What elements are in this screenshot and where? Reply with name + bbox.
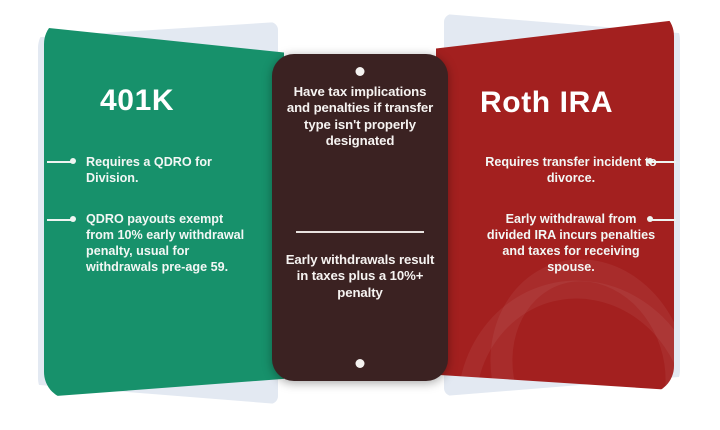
left-panel-401k [44,16,284,400]
left-bullet-1-dot [70,158,76,164]
center-divider [296,231,424,233]
right-bullet-2-text: Early withdrawal from divided IRA incurs… [482,212,660,276]
left-bullet-2-text: QDRO payouts exempt from 10% early withd… [86,212,246,276]
center-top-text: Have tax implications and penalties if t… [282,84,438,149]
right-panel-roth-ira [436,8,674,394]
center-panel-shared-traits: Have tax implications and penalties if t… [272,54,448,381]
page-title-roth-ira: Roth IRA [480,86,613,120]
left-bullet-2-dot [70,216,76,222]
right-bullet-1-text: Requires transfer incident to divorce. [482,155,660,187]
top-stud-dot-icon [356,67,365,76]
page-title-401k: 401K [100,84,174,118]
left-bullet-1-text: Requires a QDRO for Division. [86,155,246,187]
bottom-stud-dot-icon [356,359,365,368]
infographic-canvas: 401K Roth IRA Requires a QDRO for Divisi… [0,0,720,430]
center-bottom-text: Early withdrawals result in taxes plus a… [282,252,438,301]
